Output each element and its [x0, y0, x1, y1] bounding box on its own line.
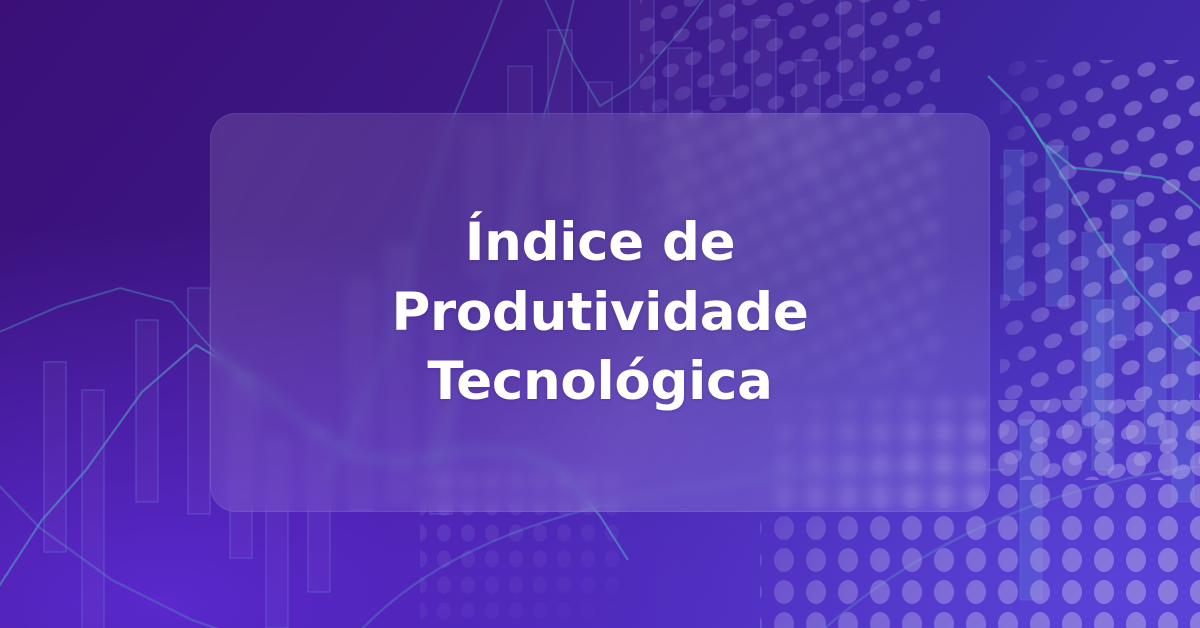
headline-card: Índice de Produtividade Tecnológica [210, 113, 990, 512]
page-title: Índice de Produtividade Tecnológica [255, 208, 945, 418]
banner-hero: Índice de Produtividade Tecnológica [0, 0, 1200, 628]
